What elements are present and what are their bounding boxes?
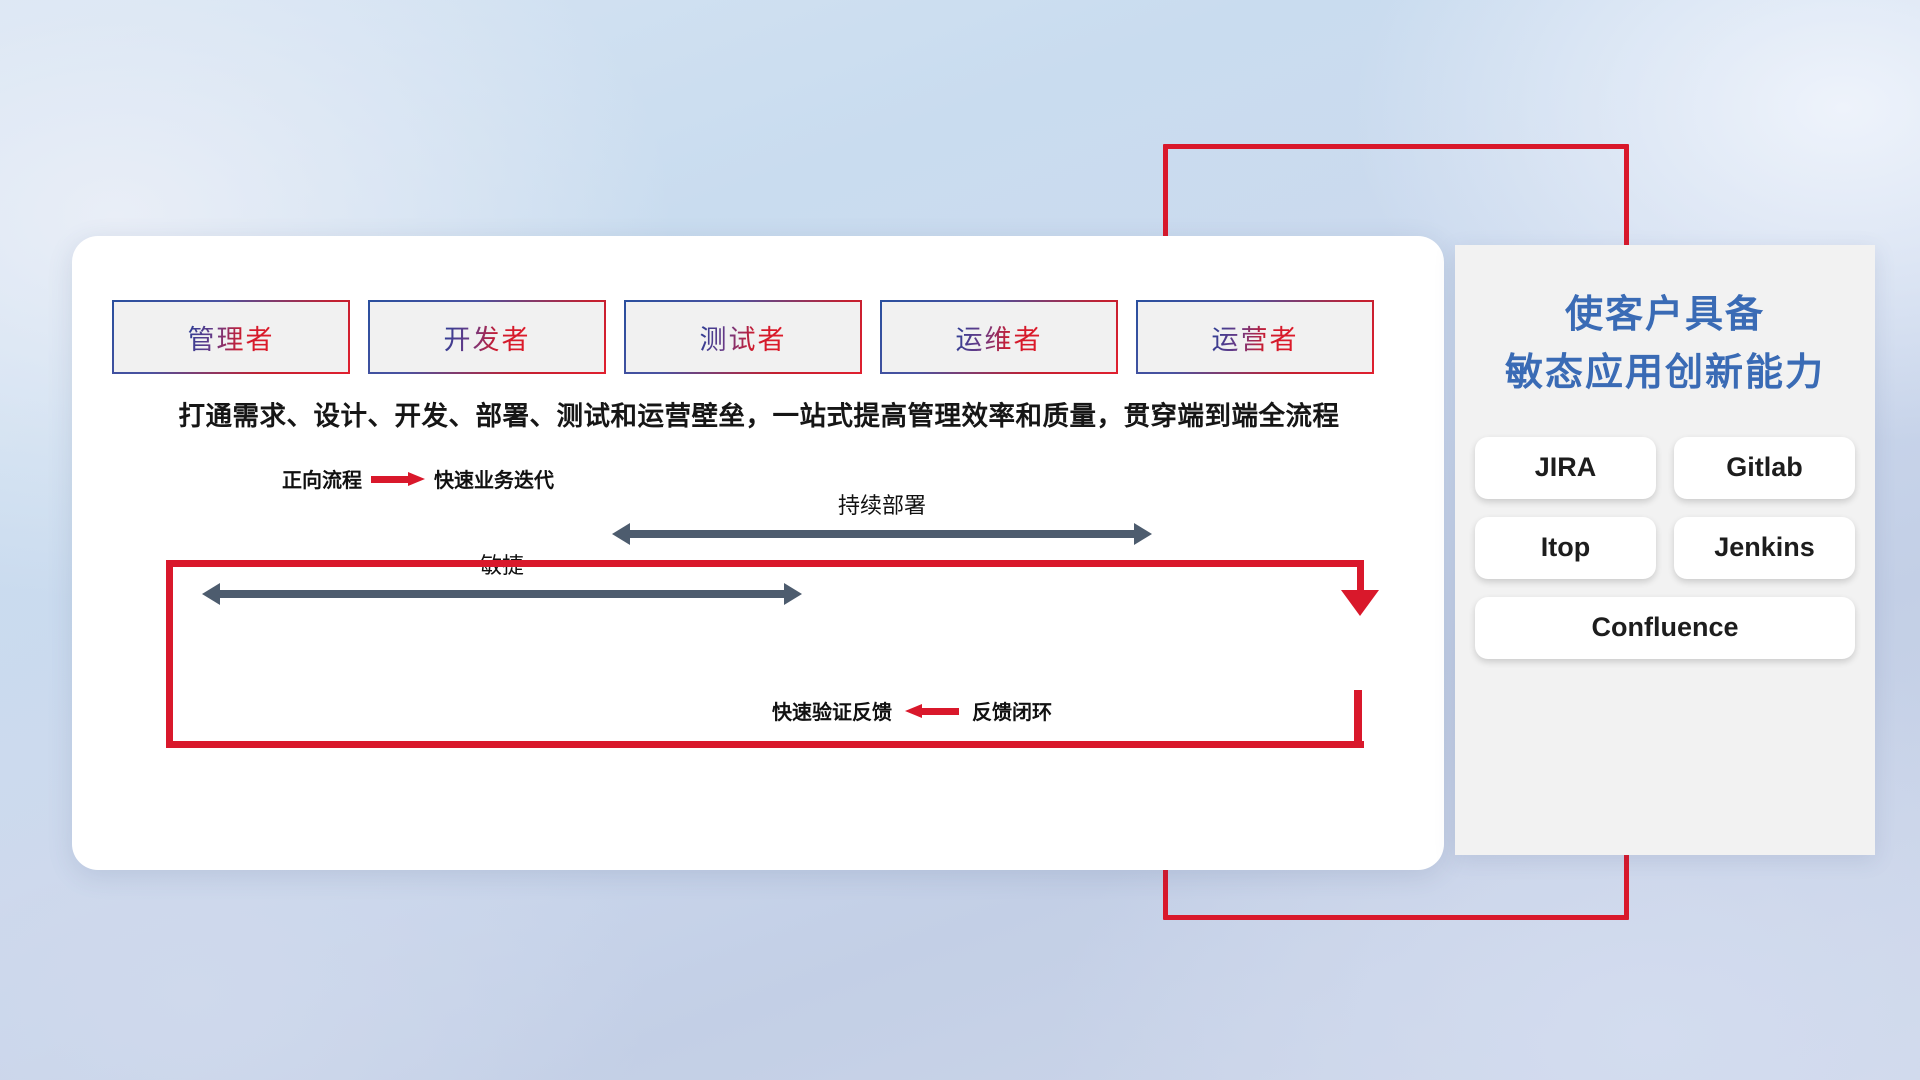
arrow-down-red-icon xyxy=(1341,590,1379,616)
feedback-loop-top-line xyxy=(166,560,1364,567)
headline-text: 打通需求、设计、开发、部署、测试和运营壁垒，一站式提高管理效率和质量，贯穿端到端… xyxy=(114,394,1404,433)
legend-forward-right-label: 快速业务迭代 xyxy=(434,464,554,493)
feedback-loop-left-line xyxy=(166,560,173,748)
tool-chip-gitlab[interactable]: Gitlab xyxy=(1674,437,1855,499)
role-chip-ops[interactable]: 运维者 xyxy=(880,300,1118,374)
role-chip-operations[interactable]: 运营者 xyxy=(1136,300,1374,374)
tool-chip-jira[interactable]: JIRA xyxy=(1475,437,1656,499)
node-stem-monitoring xyxy=(1354,690,1362,745)
role-chip-tester[interactable]: 测试者 xyxy=(624,300,862,374)
role-chip-label: 运维者 xyxy=(956,318,1043,357)
legend-feedback-right-label: 反馈闭环 xyxy=(972,696,1052,725)
role-chip-developer[interactable]: 开发者 xyxy=(368,300,606,374)
slide-canvas: 管理者 开发者 测试者 运维者 运营者 打通需求、设计、开发、部署、测试和运营壁… xyxy=(0,0,1920,1080)
role-chip-label: 管理者 xyxy=(188,318,275,357)
double-arrow-icon xyxy=(202,583,802,605)
arrow-right-red-icon xyxy=(371,472,425,485)
tool-chip-jenkins[interactable]: Jenkins xyxy=(1674,517,1855,579)
legend-feedback-loop: 快速验证反馈 反馈闭环 xyxy=(772,696,1052,725)
capability-side-panel: 使客户具备 敏态应用创新能力 JIRA Gitlab Itop Jenkins … xyxy=(1455,245,1875,855)
role-chip-row: 管理者 开发者 测试者 运维者 运营者 xyxy=(112,300,1374,374)
role-chip-label: 运营者 xyxy=(1212,318,1299,357)
role-chip-label: 测试者 xyxy=(700,318,787,357)
span-continuous-deployment: 持续部署 xyxy=(612,488,1152,545)
legend-forward-flow: 正向流程 快速业务迭代 xyxy=(282,464,554,493)
span-agile: 敏捷 xyxy=(202,548,802,605)
tool-chip-confluence[interactable]: Confluence xyxy=(1475,597,1855,659)
side-panel-title-line1: 使客户具备 xyxy=(1455,287,1875,345)
role-chip-manager[interactable]: 管理者 xyxy=(112,300,350,374)
main-content-card: 管理者 开发者 测试者 运维者 运营者 打通需求、设计、开发、部署、测试和运营壁… xyxy=(72,236,1444,870)
role-chip-label: 开发者 xyxy=(444,318,531,357)
tool-chip-itop[interactable]: Itop xyxy=(1475,517,1656,579)
legend-forward-left-label: 正向流程 xyxy=(282,464,362,493)
tool-chip-grid: JIRA Gitlab Itop Jenkins Confluence xyxy=(1475,437,1855,659)
side-panel-title: 使客户具备 敏态应用创新能力 xyxy=(1455,287,1875,403)
side-panel-title-line2: 敏态应用创新能力 xyxy=(1455,345,1875,403)
span-label: 持续部署 xyxy=(612,488,1152,520)
arrow-left-red-icon xyxy=(905,704,959,717)
legend-feedback-left-label: 快速验证反馈 xyxy=(772,696,892,725)
feedback-loop-bottom-line xyxy=(166,741,1364,748)
double-arrow-icon xyxy=(612,523,1152,545)
